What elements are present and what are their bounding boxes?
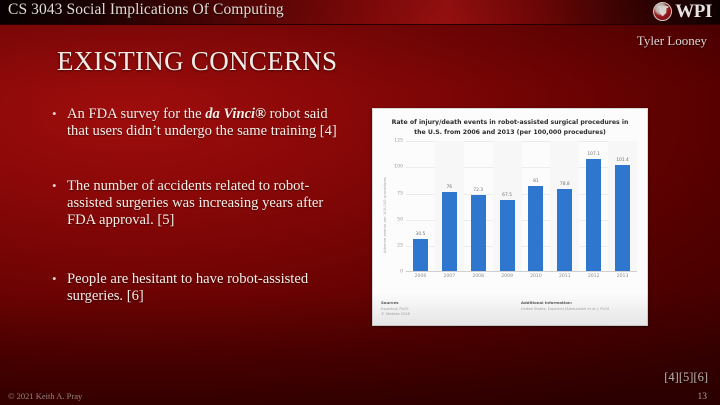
- bullet-list: • An FDA survey for the da Vinci® robot …: [52, 106, 352, 304]
- chart-additional-heading: Additional Information:: [521, 300, 639, 305]
- chart-title: Rate of injury/death events in robot-ass…: [381, 116, 639, 137]
- copyright-notice: © 2021 Keith A. Pray: [8, 391, 82, 401]
- chart-x-ticks: 20062007200820092010201120122013: [406, 274, 637, 286]
- chart-y-axis-label: Adverse events per 100,000 procedures: [380, 141, 389, 289]
- bullet-marker: •: [52, 271, 67, 305]
- chart-bar-value-label: 72.3: [473, 188, 483, 193]
- chart-x-tick-label: 2013: [617, 274, 629, 279]
- list-item: • The number of accidents related to rob…: [52, 178, 352, 229]
- chart-y-ticks: 0255075100125: [390, 141, 405, 272]
- chart-y-tick-label: 75: [397, 191, 403, 196]
- chart-y-tick-label: 125: [394, 139, 403, 144]
- chart-x-tick-label: 2007: [443, 274, 455, 279]
- chart-plot-area: Adverse events per 100,000 procedures 02…: [381, 141, 639, 289]
- list-item: • An FDA survey for the da Vinci® robot …: [52, 106, 352, 140]
- bullet-text-pre: An FDA survey for the: [67, 106, 205, 122]
- chart-bar-group: 67.5: [500, 141, 515, 271]
- bullet-text: People are hesitant to have robot-assist…: [67, 271, 352, 305]
- course-title: CS 3043 Social Implications Of Computing: [8, 1, 284, 19]
- chart-y-tick-label: 25: [397, 244, 403, 249]
- chart-bar-group: 81: [528, 141, 543, 271]
- chart-bar-group: 72.3: [471, 141, 486, 271]
- chart-y-tick-label: 50: [397, 217, 403, 222]
- chart-bar-value-label: 81: [533, 179, 539, 184]
- page-title: EXISTING CONCERNS: [57, 46, 337, 77]
- bullet-text-emphasis: da Vinci®: [205, 106, 266, 122]
- slide-canvas: CS 3043 Social Implications Of Computing…: [0, 0, 720, 405]
- chart-x-tick-label: 2006: [415, 274, 427, 279]
- chart-additional-line: United States; Expertcd (Alemzadeh et al…: [521, 307, 639, 312]
- chart-y-tick-label: 0: [400, 270, 403, 275]
- wpi-seal-icon: [653, 2, 672, 21]
- list-item: • People are hesitant to have robot-assi…: [52, 271, 352, 305]
- chart-sources-heading: Sources: [381, 300, 499, 305]
- chart-x-tick-label: 2008: [472, 274, 484, 279]
- bullet-marker: •: [52, 106, 67, 140]
- presenter-name: Tyler Looney: [637, 33, 707, 49]
- chart-bar-value-label: 107.1: [587, 152, 600, 157]
- chart-bar: [586, 159, 601, 271]
- chart-sources-line: © Statista 2018: [381, 312, 499, 317]
- chart-bar: [615, 165, 630, 271]
- reference-list: [4][5][6]: [664, 370, 708, 385]
- chart-bar-group: 78.8: [557, 141, 572, 271]
- wpi-logo-text: WPI: [675, 2, 712, 21]
- chart-bar: [528, 186, 543, 271]
- chart-x-tick-label: 2010: [530, 274, 542, 279]
- chart-x-tick-label: 2012: [588, 274, 600, 279]
- chart-sources: Sources Expertcd; PLOS © Statista 2018: [381, 300, 499, 317]
- bullet-text: An FDA survey for the da Vinci® robot sa…: [67, 106, 352, 140]
- page-number: 13: [698, 392, 708, 402]
- chart-footnotes: Sources Expertcd; PLOS © Statista 2018 A…: [381, 300, 639, 317]
- chart-y-tick-label: 100: [394, 165, 403, 170]
- chart-image: Rate of injury/death events in robot-ass…: [372, 108, 648, 326]
- chart-bar-value-label: 101.4: [616, 158, 629, 163]
- chart-bar-group: 107.1: [586, 141, 601, 271]
- chart-x-tick-label: 2009: [501, 274, 513, 279]
- chart-bar: [442, 192, 457, 272]
- chart-bar: [557, 189, 572, 272]
- bullet-text: The number of accidents related to robot…: [67, 178, 352, 229]
- chart-bar: [413, 239, 428, 271]
- chart-additional-info: Additional Information: United States; E…: [521, 300, 639, 317]
- chart-bars: 30.57672.367.58178.8107.1101.4: [406, 141, 637, 272]
- chart-bar-value-label: 30.5: [416, 232, 426, 237]
- chart-bar-value-label: 78.8: [560, 182, 570, 187]
- chart-bar-group: 76: [442, 141, 457, 271]
- chart-bar-value-label: 76: [447, 185, 453, 190]
- chart-bar: [471, 195, 486, 271]
- bullet-marker: •: [52, 178, 67, 229]
- wpi-logo: WPI: [653, 2, 712, 21]
- chart-bar: [500, 200, 515, 271]
- chart-x-tick-label: 2011: [559, 274, 571, 279]
- chart-bar-value-label: 67.5: [502, 193, 512, 198]
- chart-bar-group: 30.5: [413, 141, 428, 271]
- slide-banner: CS 3043 Social Implications Of Computing…: [0, 0, 720, 25]
- chart-bar-group: 101.4: [615, 141, 630, 271]
